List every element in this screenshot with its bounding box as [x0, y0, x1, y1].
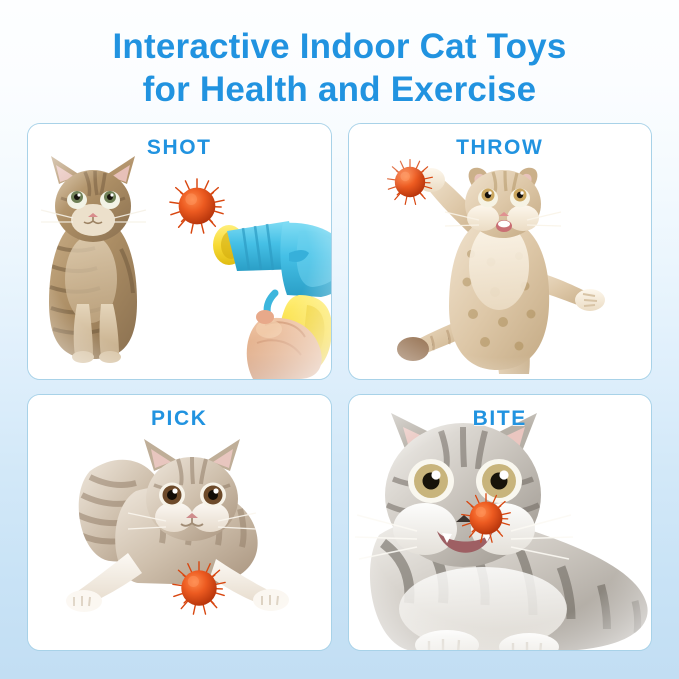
product-infographic-poster: Interactive Indoor Cat Toys for Health a…: [0, 0, 679, 679]
title-line-2: for Health and Exercise: [0, 69, 679, 112]
cat-brown-tabby-sitting: [33, 154, 153, 369]
card-label-shot: SHOT: [28, 136, 331, 160]
card-label-bite: BITE: [349, 407, 652, 431]
feature-card-bite: BITE: [348, 394, 653, 651]
title-line-1: Interactive Indoor Cat Toys: [0, 26, 679, 69]
toy-ball-orange: [386, 158, 434, 206]
toy-ball-orange: [460, 492, 512, 544]
feature-card-pick: PICK: [27, 394, 332, 651]
toy-launcher-gun-with-hand: [203, 209, 331, 379]
scene-bite: [349, 395, 652, 650]
feature-card-grid: SHOT: [27, 123, 652, 651]
page-title: Interactive Indoor Cat Toys for Health a…: [0, 26, 679, 111]
toy-ball-orange: [171, 560, 227, 616]
card-label-pick: PICK: [28, 407, 331, 431]
feature-card-shot: SHOT: [27, 123, 332, 380]
card-label-throw: THROW: [349, 136, 652, 160]
scene-throw: [349, 124, 652, 379]
feature-card-throw: THROW: [348, 123, 653, 380]
scene-shot: [28, 124, 331, 379]
scene-pick: [28, 395, 331, 650]
